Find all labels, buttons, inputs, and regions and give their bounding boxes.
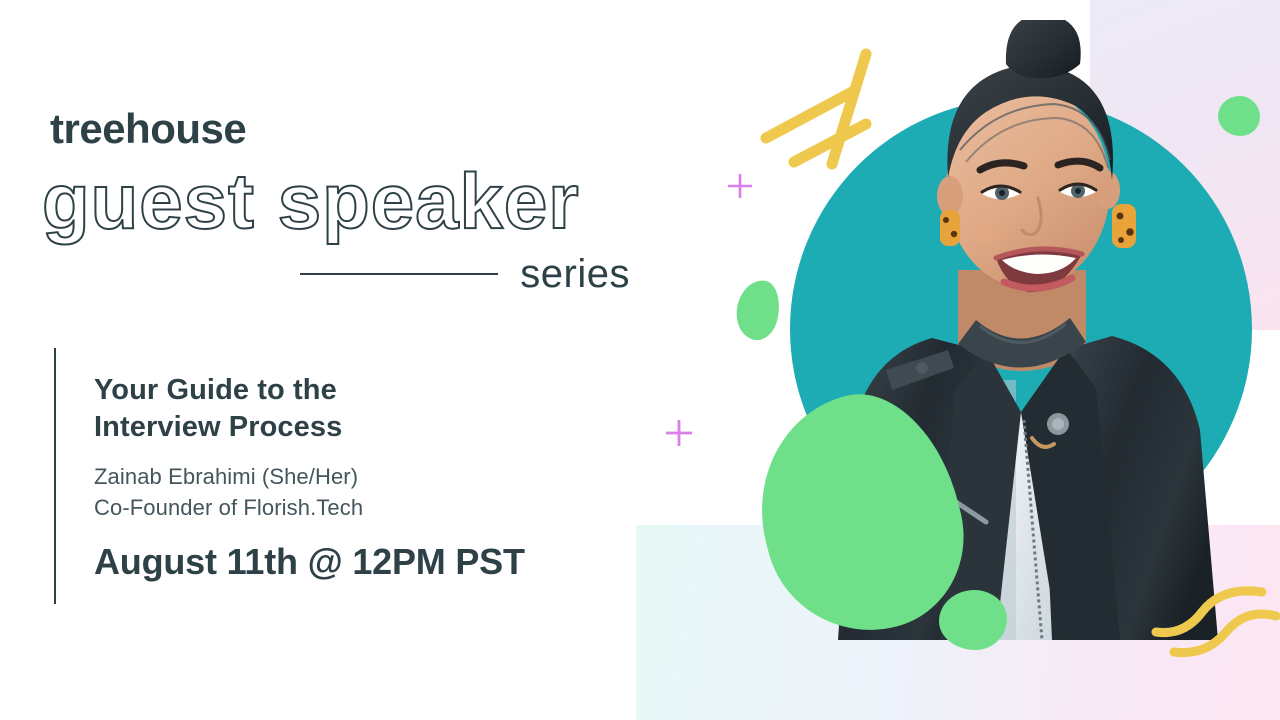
talk-title-line-2: Interview Process <box>94 409 525 446</box>
talk-title-line-1: Your Guide to the <box>94 372 525 409</box>
event-datetime: August 11th @ 12PM PST <box>94 544 525 580</box>
text-column: treehouse guest speaker series Your Guid… <box>0 0 680 720</box>
speaker-role: Co-Founder of Florish.Tech <box>94 493 525 524</box>
event-details-block: Your Guide to the Interview Process Zain… <box>54 348 525 604</box>
promo-slide: treehouse guest speaker series Your Guid… <box>0 0 1280 720</box>
organic-blob-icon <box>939 590 1007 650</box>
talk-title: Your Guide to the Interview Process <box>94 372 525 446</box>
plus-mark-icon <box>726 172 754 200</box>
speaker-name: Zainab Ebrahimi (She/Her) <box>94 462 525 493</box>
organic-blob-icon <box>731 276 785 343</box>
series-label: series <box>520 254 630 294</box>
series-divider-rule <box>300 273 498 275</box>
headline-outline-text: guest speaker <box>42 162 580 240</box>
series-row: series <box>300 254 630 294</box>
brand-logo: treehouse <box>50 108 246 150</box>
